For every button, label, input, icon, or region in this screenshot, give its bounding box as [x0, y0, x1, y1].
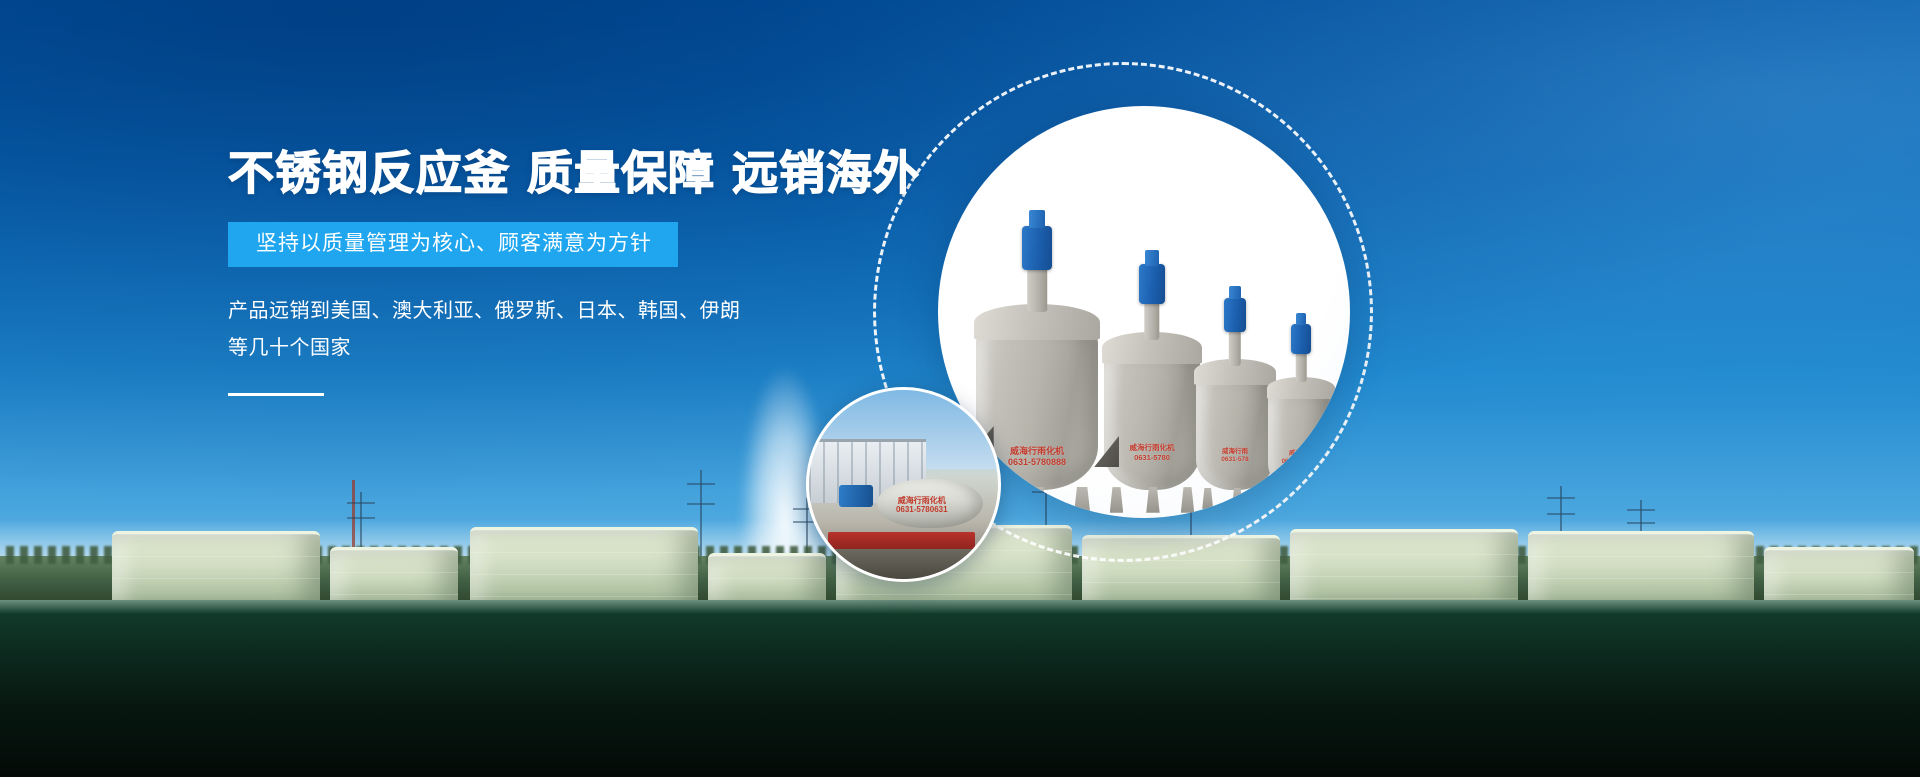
vessel-brand-4: 威海行雨: [1289, 451, 1313, 457]
vessel-label-3: 威海行雨 0631-578: [1221, 448, 1248, 464]
description: 产品远销到美国、澳大利亚、俄罗斯、日本、韩国、伊朗 等几十个国家: [228, 293, 748, 367]
reactor-neck: [1027, 266, 1047, 312]
copy-block: 不锈钢反应釜 质量保障 远销海外 坚持以质量管理为核心、顾客满意为方针 产品远销…: [228, 150, 868, 396]
storage-tank-1: [112, 531, 320, 609]
highlight-bar: 坚持以质量管理为核心、顾客满意为方针: [228, 222, 678, 267]
product-circle: 威海行雨化机 0631-5780888 威海行雨化机 0631-5780: [938, 106, 1350, 518]
vessel-label-4: 威海行雨 0631-5780631: [1282, 451, 1321, 466]
storage-tank-7: [1290, 529, 1518, 609]
photo-label-brand: 威海行雨化机: [898, 496, 946, 505]
photo-label-phone: 0631-5780631: [896, 505, 948, 514]
water-foreground: [0, 600, 1920, 777]
photo-ground: [809, 549, 998, 579]
reactor-motor: [1022, 226, 1052, 270]
divider-rule: [228, 393, 324, 396]
storage-tank-3: [470, 527, 698, 609]
reactor-vessel-4: 威海行雨 0631-5780631: [1268, 388, 1334, 490]
reactor-neck: [1229, 330, 1241, 366]
vessel-phone-3: 0631-578: [1221, 456, 1248, 463]
reactor-motor: [1224, 298, 1246, 332]
vessel-brand-1: 威海行雨化机: [1010, 446, 1064, 456]
description-line-1: 产品远销到美国、澳大利亚、俄罗斯、日本、韩国、伊朗: [228, 293, 748, 330]
reactor-neck: [1144, 300, 1159, 340]
description-line-2: 等几十个国家: [228, 330, 748, 367]
reactor-legs: [1104, 487, 1200, 513]
vessel-label-1: 威海行雨化机 0631-5780888: [1008, 446, 1066, 469]
reactor-motor: [1291, 324, 1311, 354]
vessel-phone-1: 0631-5780888: [1008, 457, 1066, 467]
photo-vessel-label: 威海行雨化机 0631-5780631: [896, 496, 948, 515]
vessel-brand-2: 威海行雨化机: [1130, 443, 1175, 452]
photo-circle: 威海行雨化机 0631-5780631: [806, 387, 1001, 582]
vessel-brand-3: 威海行雨: [1222, 448, 1248, 455]
storage-tank-8: [1528, 531, 1754, 609]
reactor-motor: [1139, 264, 1165, 304]
reactor-neck: [1296, 352, 1307, 382]
reactor-legs: [1268, 488, 1334, 506]
reactor-vessel-3: 威海行雨 0631-578: [1196, 372, 1274, 490]
reactor-legs: [1196, 488, 1274, 509]
vessel-phone-2: 0631-5780: [1134, 453, 1170, 462]
vessel-phone-4: 0631-5780631: [1282, 459, 1321, 465]
hero-banner: 威海行雨化机 0631-5780888 威海行雨化机 0631-5780: [0, 0, 1920, 777]
vessel-label-2: 威海行雨化机 0631-5780: [1130, 443, 1175, 462]
photo-reactor-motor: [839, 485, 873, 508]
tower-antenna-left: [352, 480, 355, 550]
headline: 不锈钢反应釜 质量保障 远销海外: [228, 150, 868, 196]
reactor-vessel-2: 威海行雨化机 0631-5780: [1104, 348, 1200, 490]
